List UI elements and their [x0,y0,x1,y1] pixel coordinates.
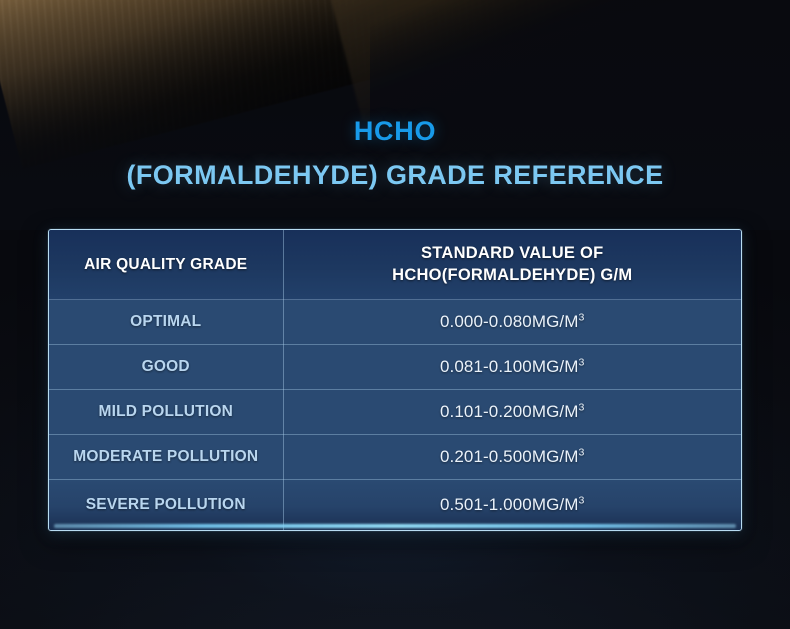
cell-value-range: 0.501-1.000MG/M [440,495,579,514]
cell-value-range: 0.201-0.500MG/M [440,447,579,466]
table-row: OPTIMAL 0.000-0.080MG/M3 [49,300,741,345]
table-row: MODERATE POLLUTION 0.201-0.500MG/M3 [49,435,741,480]
table-row: GOOD 0.081-0.100MG/M3 [49,345,741,390]
page-title-line-1: HCHO [0,118,790,145]
page-title: HCHO (FORMALDEHYDE) GRADE REFERENCE [0,118,790,189]
cell-value-exponent: 3 [579,401,585,413]
cell-value: 0.201-0.500MG/M3 [283,435,741,480]
cell-value-exponent: 3 [579,356,585,368]
column-header-standard-value-line-1: STANDARD VALUE OF [421,244,603,262]
table-row: SEVERE POLLUTION 0.501-1.000MG/M3 [49,480,741,531]
cell-value: 0.501-1.000MG/M3 [283,480,741,531]
cell-value-range: 0.081-0.100MG/M [440,357,579,376]
promo-slide: HCHO (FORMALDEHYDE) GRADE REFERENCE AIR … [0,0,790,629]
cell-grade: MILD POLLUTION [49,390,283,435]
cell-value-range: 0.000-0.080MG/M [440,312,579,331]
cell-grade: GOOD [49,345,283,390]
cell-value-range: 0.101-0.200MG/M [440,402,579,421]
cell-value-exponent: 3 [579,494,585,506]
cell-grade: OPTIMAL [49,300,283,345]
cell-grade: SEVERE POLLUTION [49,480,283,531]
cell-value: 0.101-0.200MG/M3 [283,390,741,435]
cell-value-exponent: 3 [579,446,585,458]
cell-value: 0.000-0.080MG/M3 [283,300,741,345]
grade-reference-table: AIR QUALITY GRADE STANDARD VALUE OF HCHO… [48,229,742,531]
background-fade-overlay [0,0,790,230]
table-row: MILD POLLUTION 0.101-0.200MG/M3 [49,390,741,435]
column-header-standard-value: STANDARD VALUE OF HCHO(FORMALDEHYDE) G/M [283,230,741,300]
column-header-air-quality-grade: AIR QUALITY GRADE [49,230,283,300]
cell-value: 0.081-0.100MG/M3 [283,345,741,390]
cell-value-exponent: 3 [579,311,585,323]
cell-grade: MODERATE POLLUTION [49,435,283,480]
page-title-line-2: (FORMALDEHYDE) GRADE REFERENCE [0,162,790,189]
column-header-standard-value-line-2: HCHO(FORMALDEHYDE) G/M [392,266,632,284]
table-header-row: AIR QUALITY GRADE STANDARD VALUE OF HCHO… [49,230,741,300]
